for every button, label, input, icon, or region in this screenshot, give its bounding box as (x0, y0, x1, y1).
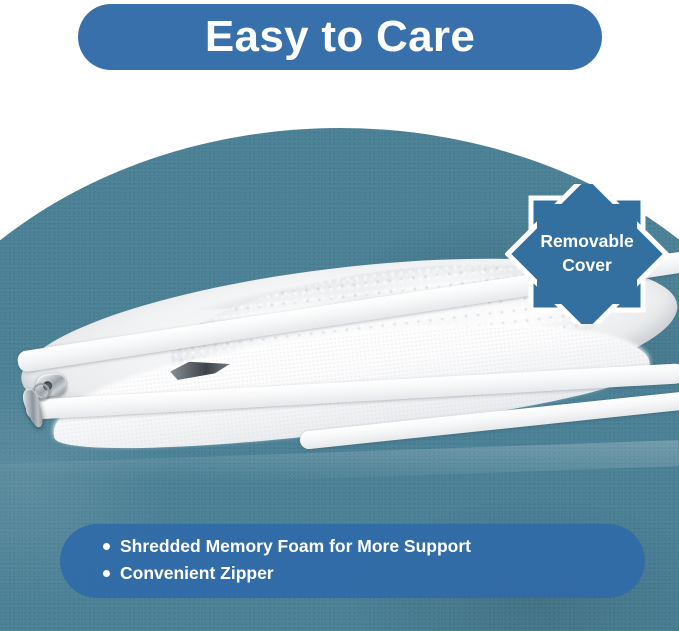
feature-label: Convenient Zipper (120, 560, 274, 587)
star-burst-icon (508, 184, 666, 324)
product-feature-image: Easy to Care Removable Cover Shredded Me… (0, 0, 679, 631)
list-item: Convenient Zipper (103, 560, 645, 587)
header-banner: Easy to Care (78, 4, 602, 70)
feature-banner: Shredded Memory Foam for More Support Co… (60, 524, 645, 598)
page-title: Easy to Care (205, 15, 475, 59)
feature-label: Shredded Memory Foam for More Support (120, 533, 471, 560)
list-item: Shredded Memory Foam for More Support (103, 533, 645, 560)
bullet-dot-icon (103, 543, 110, 550)
bullet-dot-icon (103, 570, 110, 577)
removable-cover-badge: Removable Cover (505, 184, 669, 324)
feature-list: Shredded Memory Foam for More Support Co… (60, 533, 645, 588)
